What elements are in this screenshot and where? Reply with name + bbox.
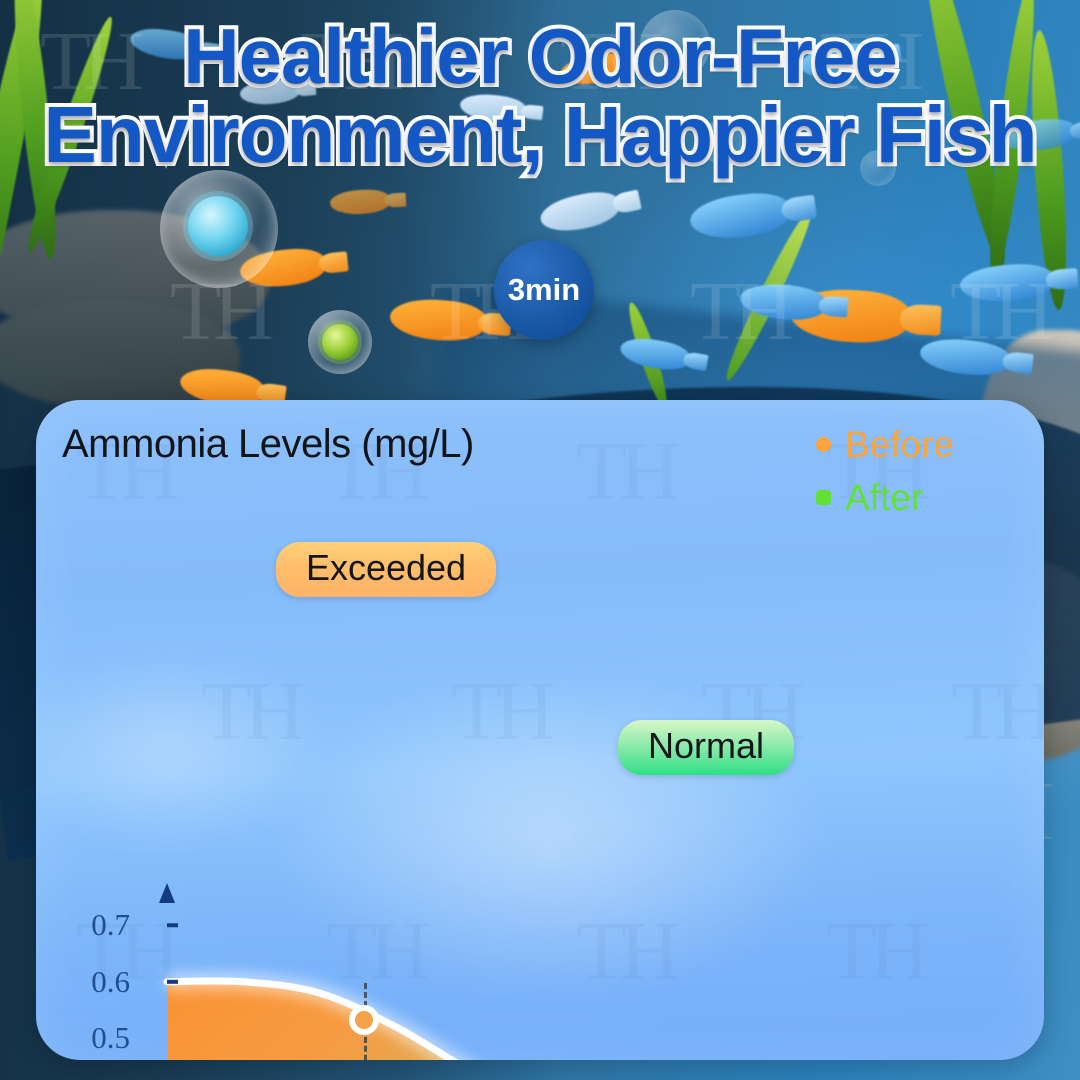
time-badge-label: 3min — [508, 272, 580, 308]
y-tick-label: 0.5 — [91, 1020, 130, 1056]
plot-area — [36, 400, 1044, 1060]
title-line-1: Healthier Odor-Free — [183, 12, 897, 100]
title-line-2: Environment, Happier Fish — [0, 95, 1080, 174]
data-point-before[interactable] — [349, 1005, 379, 1035]
poster: THTHTHTHTHTHTHTHTHTHTHTHTHTHTHTHTHTHTHTH… — [0, 0, 1080, 1080]
chart-svg — [36, 400, 1044, 1060]
fish-blue — [959, 262, 1055, 304]
annotation-normal-label: Normal — [648, 725, 764, 766]
fish-orange — [389, 297, 488, 344]
annotation-exceeded: Exceeded — [276, 542, 496, 597]
y-tick-label: 0.6 — [91, 964, 130, 1000]
page-title: Healthier Odor-Free Environment, Happier… — [0, 18, 1080, 174]
time-badge: 3min — [494, 240, 594, 340]
bacteria-cyan-icon — [188, 196, 248, 256]
fish-orange — [329, 188, 390, 215]
annotation-normal: Normal — [618, 720, 794, 775]
annotation-exceeded-label: Exceeded — [306, 547, 466, 588]
algae-green-icon — [322, 324, 358, 360]
y-tick-label: 0.7 — [91, 907, 130, 943]
chart-card: THTHTHTHTHTHTHTHTHTHTHTHTHTHTH Ammonia L… — [36, 400, 1044, 1060]
